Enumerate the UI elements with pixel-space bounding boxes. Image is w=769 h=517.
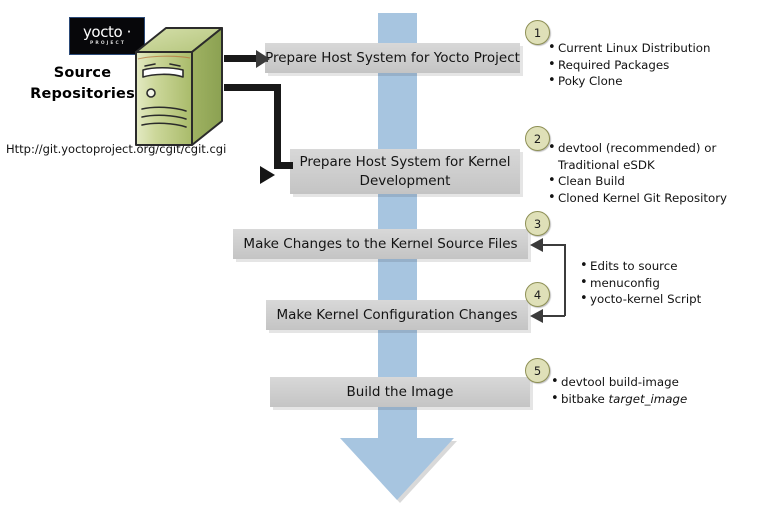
process-box-step2-label-line1: Prepare Host System for Kernel [299,153,510,172]
bullet-dot-icon: • [548,57,558,74]
yocto-logo-subtext: PROJECT [90,40,126,48]
bullet-text: Poky Clone [558,73,748,90]
list-item: • devtool build-image [551,374,751,391]
step-number-1-text: 1 [534,26,541,40]
arrowhead-step4-feedback [530,309,543,323]
feedback-connector-bottom-horizontal [543,315,565,317]
list-item: • devtool (recommended) or Traditional e… [548,140,748,173]
process-box-step5[interactable]: Build the Image [270,377,530,407]
list-item: • Required Packages [548,57,748,74]
connector-server-to-step2-horizontal2 [274,162,293,169]
step-number-4: 4 [525,282,550,307]
step-number-5-text: 5 [534,364,541,378]
flow-arrow-shaft [378,13,417,440]
process-box-step2[interactable]: Prepare Host System for Kernel Developme… [290,149,520,194]
step-number-1: 1 [525,20,550,45]
bullet-text: Edits to source [590,258,760,275]
bullet-text: Current Linux Distribution [558,40,748,57]
process-box-step1[interactable]: Prepare Host System for Yocto Project [265,43,520,73]
bullet-dot-icon: • [551,391,561,408]
bullet-dot-icon: • [548,73,558,90]
bullet-text: devtool (recommended) or Traditional eSD… [558,140,748,173]
list-item: • Edits to source [580,258,760,275]
process-box-step4-label: Make Kernel Configuration Changes [276,306,517,325]
bullet-text: Clean Build [558,173,748,190]
bullet-dot-icon: • [548,190,558,207]
bullet-dot-icon: • [580,291,590,308]
bullet-text-composite: bitbake target_image [561,391,751,408]
source-repositories-line2: Repositories [20,84,145,105]
bullet-list-step1: • Current Linux Distribution • Required … [548,40,748,90]
step-number-3: 3 [525,211,550,236]
step-number-2-text: 2 [534,132,541,146]
bullet-text: menuconfig [590,275,760,292]
step-number-2: 2 [525,126,550,151]
list-item: • yocto-kernel Script [580,291,760,308]
bullet-dot-icon: • [580,275,590,292]
flow-arrow-head [340,438,454,500]
bullet-dot-icon: • [548,140,558,157]
connector-server-to-step2-vertical [274,84,281,169]
source-repositories-label: Source Repositories [20,63,145,105]
list-item: • Current Linux Distribution [548,40,748,57]
list-item: • Clean Build [548,173,748,190]
bullet-list-steps-3-4: • Edits to source • menuconfig • yocto-k… [580,258,760,308]
bullet-list-step5: • devtool build-image • bitbake target_i… [551,374,751,407]
process-box-step5-label: Build the Image [347,383,454,402]
bullet-list-step2: • devtool (recommended) or Traditional e… [548,140,748,206]
step-number-4-text: 4 [534,288,541,302]
yocto-logo-wordmark: yocto · [83,25,131,40]
bullet-text: bitbake [561,392,609,406]
bullet-dot-icon: • [548,40,558,57]
diagram-canvas: yocto · PROJECT Source Repositories Http… [0,0,769,517]
connector-server-to-step1 [224,55,260,62]
process-box-step2-label-line2: Development [360,172,451,191]
process-box-step3-label: Make Changes to the Kernel Source Files [243,235,517,254]
bullet-text-italic: target_image [609,392,688,406]
list-item: • Cloned Kernel Git Repository [548,190,748,207]
process-box-step1-label: Prepare Host System for Yocto Project [265,49,520,68]
step-number-5: 5 [525,358,550,383]
arrowhead-step3-feedback [530,238,543,252]
bullet-dot-icon: • [551,374,561,391]
bullet-text: yocto-kernel Script [590,291,760,308]
bullet-text: Cloned Kernel Git Repository [558,190,748,207]
list-item: • menuconfig [580,275,760,292]
list-item: • bitbake target_image [551,391,751,408]
bullet-text: devtool build-image [561,374,751,391]
process-box-step4[interactable]: Make Kernel Configuration Changes [266,300,528,330]
arrowhead-step1 [256,50,270,68]
arrowhead-step2 [260,166,275,184]
bullet-text: Required Packages [558,57,748,74]
bullet-dot-icon: • [548,173,558,190]
list-item: • Poky Clone [548,73,748,90]
step-number-3-text: 3 [534,217,541,231]
connector-server-to-step2-horizontal [224,84,281,91]
feedback-connector-top-horizontal [543,244,565,246]
process-box-step3[interactable]: Make Changes to the Kernel Source Files [233,229,528,259]
bullet-dot-icon: • [580,258,590,275]
feedback-connector-vertical [564,244,566,316]
server-icon [133,25,225,150]
source-repositories-line1: Source [20,63,145,84]
